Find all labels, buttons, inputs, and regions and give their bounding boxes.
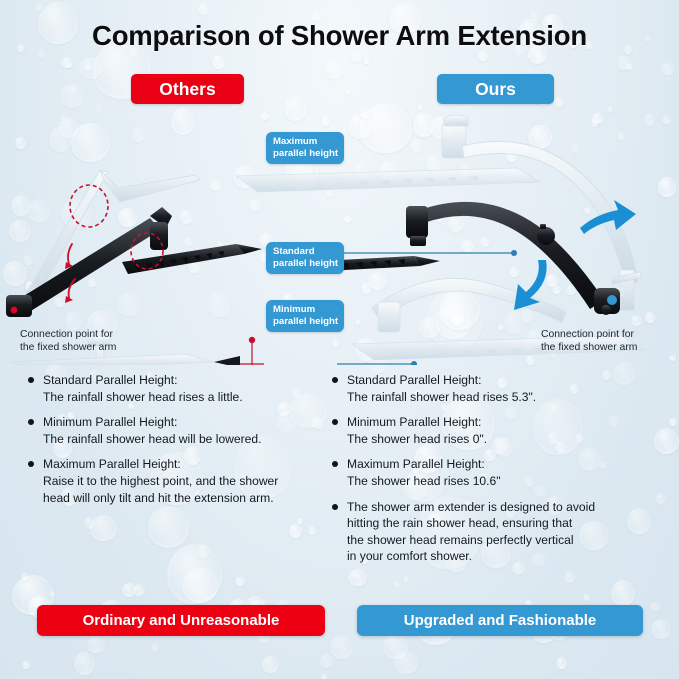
list-item: Maximum Parallel Height:The shower head … (332, 456, 662, 489)
list-item-line: The shower head rises 10.6" (347, 473, 501, 490)
callout-line-2: parallel height (273, 258, 338, 270)
callout-line-1: Maximum (273, 136, 338, 148)
connection-caption-line-1: Connection point for (541, 328, 637, 341)
bullet-icon (332, 461, 338, 467)
bullet-icon (332, 419, 338, 425)
list-item-line: Standard Parallel Height: (347, 372, 536, 389)
connection-point-caption-left: Connection point for the fixed shower ar… (20, 328, 116, 354)
standard-height-pointer-icon (214, 356, 240, 365)
badge-ours: Ours (437, 74, 554, 104)
droplet-decoration (394, 651, 418, 675)
callout-line-2: parallel height (273, 316, 338, 328)
droplet-decoration (74, 652, 95, 675)
droplet-decoration (60, 84, 84, 108)
list-item: Maximum Parallel Height:Raise it to the … (28, 456, 340, 506)
droplet-decoration (61, 57, 72, 69)
list-item-line: The rainfall shower head will be lowered… (43, 431, 261, 448)
right-diagram-black-arm (302, 202, 620, 315)
list-item-text: Minimum Parallel Height:The rainfall sho… (43, 414, 261, 447)
droplet-decoration (22, 661, 30, 669)
droplet-decoration (79, 57, 101, 79)
droplet-decoration (351, 51, 363, 63)
bullet-icon (332, 377, 338, 383)
droplet-decoration (151, 643, 160, 651)
feature-list-ours: Standard Parallel Height:The rainfall sh… (332, 372, 662, 574)
callout-standard-parallel-height: Standard parallel height (266, 242, 344, 274)
callout-minimum-parallel-height: Minimum parallel height (266, 300, 344, 332)
list-item-text: Minimum Parallel Height:The shower head … (347, 414, 487, 447)
droplet-decoration (556, 657, 566, 669)
list-item-line: Minimum Parallel Height: (347, 414, 487, 431)
droplet-decoration (35, 3, 44, 12)
droplet-decoration (65, 61, 72, 68)
list-item: Standard Parallel Height:The rainfall sh… (332, 372, 662, 405)
droplet-decoration (583, 594, 590, 602)
droplet-decoration (383, 634, 407, 659)
droplet-decoration (262, 656, 279, 672)
verdict-banner-ours: Upgraded and Fashionable (357, 605, 643, 636)
list-item: Standard Parallel Height:The rainfall sh… (28, 372, 340, 405)
list-item-text: Standard Parallel Height:The rainfall sh… (347, 372, 536, 405)
droplet-decoration (535, 53, 544, 63)
list-item-line: Standard Parallel Height: (43, 372, 243, 389)
droplet-decoration (617, 55, 631, 70)
list-item-line: The shower head rises 0". (347, 431, 487, 448)
list-item-text: The shower arm extender is designed to a… (347, 499, 595, 565)
callout-line-1: Standard (273, 246, 338, 258)
connection-caption-line-1: Connection point for (20, 328, 116, 341)
list-item-line: The shower arm extender is designed to a… (347, 499, 595, 516)
list-item-line: head will only tilt and hit the extensio… (43, 490, 278, 507)
droplet-decoration (626, 63, 633, 70)
badge-others: Others (131, 74, 244, 104)
list-item-line: the shower head remains perfectly vertic… (347, 532, 595, 549)
droplet-decoration (212, 55, 225, 69)
verdict-banner-others: Ordinary and Unreasonable (37, 605, 325, 636)
list-item-line: Maximum Parallel Height: (43, 456, 278, 473)
list-item-line: The rainfall shower head rises a little. (43, 389, 243, 406)
list-item: Minimum Parallel Height:The shower head … (332, 414, 662, 447)
droplet-decoration (87, 636, 105, 653)
list-item-line: hitting the rain shower head, ensuring t… (347, 515, 595, 532)
connection-point-caption-right: Connection point for the fixed shower ar… (541, 328, 637, 354)
callout-line-1: Minimum (273, 304, 338, 316)
droplet-decoration (661, 63, 674, 75)
droplet-decoration (363, 57, 370, 64)
bullet-icon (28, 461, 34, 467)
list-item: The shower arm extender is designed to a… (332, 499, 662, 565)
list-item-line: Minimum Parallel Height: (43, 414, 261, 431)
bullet-icon (28, 419, 34, 425)
comparison-infographic: Comparison of Shower Arm Extension Other… (0, 0, 679, 679)
droplet-decoration (70, 86, 76, 93)
bullet-icon (28, 377, 34, 383)
list-item: Minimum Parallel Height:The rainfall sho… (28, 414, 340, 447)
list-item-line: The rainfall shower head rises 5.3". (347, 389, 536, 406)
list-item-text: Standard Parallel Height:The rainfall sh… (43, 372, 243, 405)
callout-line-2: parallel height (273, 148, 338, 160)
droplet-decoration (650, 602, 660, 612)
page-title: Comparison of Shower Arm Extension (0, 20, 679, 52)
bullet-icon (332, 504, 338, 510)
droplet-decoration (320, 654, 333, 668)
droplet-decoration (553, 97, 564, 107)
callout-maximum-parallel-height: Maximum parallel height (266, 132, 344, 164)
droplet-decoration (198, 3, 210, 15)
feature-columns: Standard Parallel Height:The rainfall sh… (0, 372, 679, 587)
droplet-decoration (330, 635, 353, 659)
droplet-decoration (84, 64, 92, 72)
droplet-decoration (325, 60, 344, 79)
connection-caption-line-2: the fixed shower arm (541, 341, 637, 354)
droplet-decoration (321, 674, 327, 679)
feature-list-others: Standard Parallel Height:The rainfall sh… (28, 372, 340, 515)
list-item-text: Maximum Parallel Height:Raise it to the … (43, 456, 278, 506)
droplet-decoration (417, 103, 423, 109)
connection-caption-line-2: the fixed shower arm (20, 341, 116, 354)
list-item-line: Raise it to the highest point, and the s… (43, 473, 278, 490)
droplet-decoration (49, 591, 56, 598)
droplet-decoration (478, 51, 488, 61)
list-item-line: Maximum Parallel Height: (347, 456, 501, 473)
list-item-line: in your comfort shower. (347, 548, 595, 565)
droplet-decoration (651, 619, 671, 639)
list-item-text: Maximum Parallel Height:The shower head … (347, 456, 501, 489)
droplet-decoration (345, 89, 351, 95)
